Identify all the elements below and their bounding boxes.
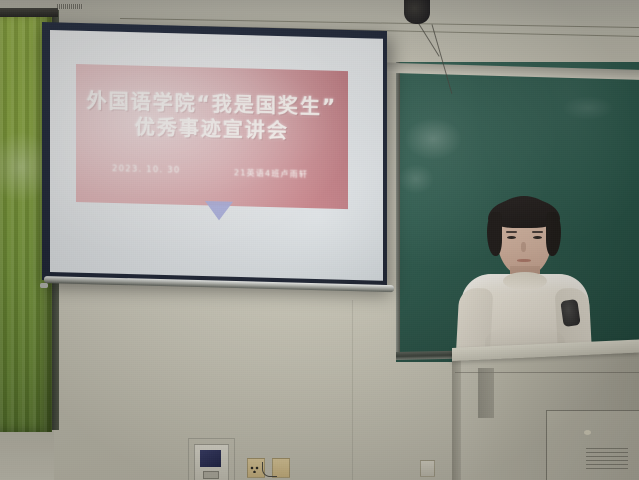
curtain-rail (0, 8, 58, 17)
outlet-cable (262, 462, 277, 477)
wall-behind-curtain (0, 430, 54, 480)
slide-banner: 外国语学院“我是国奖生” 优秀事迹宣讲会 2023. 10. 30 21英语4班… (76, 64, 348, 209)
projection-screen-rod-end (40, 283, 48, 288)
mouth (517, 259, 531, 262)
slide-title: 外国语学院“我是国奖生” 优秀事迹宣讲会 (76, 88, 348, 145)
eye-left (507, 236, 516, 239)
sweatshirt-collar (503, 272, 547, 290)
slide-date: 2023. 10. 30 (112, 164, 180, 176)
sleeve-patch (560, 299, 580, 327)
eyebrow-right (532, 231, 543, 233)
chalk-smudge (398, 164, 434, 194)
control-panel-display (200, 450, 221, 467)
outlet-socket-holes (250, 466, 259, 473)
classroom-photo: 外国语学院“我是国奖生” 优秀事迹宣讲会 2023. 10. 30 21英语4班… (0, 0, 639, 480)
eye-right (533, 236, 542, 239)
chalk-smudge (404, 118, 462, 160)
slide-presenter: 21英语4班卢雨轩 (234, 167, 308, 180)
slide-triangle-accent (205, 201, 233, 221)
podium-vent-slots (586, 448, 628, 472)
blackboard-left-frame (396, 58, 400, 358)
podium-left-edge (452, 360, 461, 480)
control-panel-button[interactable] (203, 471, 219, 479)
wall-seam (352, 300, 353, 480)
podium-side-panel (478, 368, 494, 418)
ceiling-label (57, 4, 83, 9)
hair-side-left (487, 212, 502, 256)
wall-outlet[interactable] (420, 460, 435, 477)
nose (521, 242, 526, 252)
podium-door-knob[interactable] (584, 430, 591, 435)
ceiling-speaker-icon (404, 0, 430, 24)
eyebrow-left (506, 231, 517, 233)
chalk-smudge (562, 96, 614, 120)
hair-side-right (546, 212, 561, 256)
